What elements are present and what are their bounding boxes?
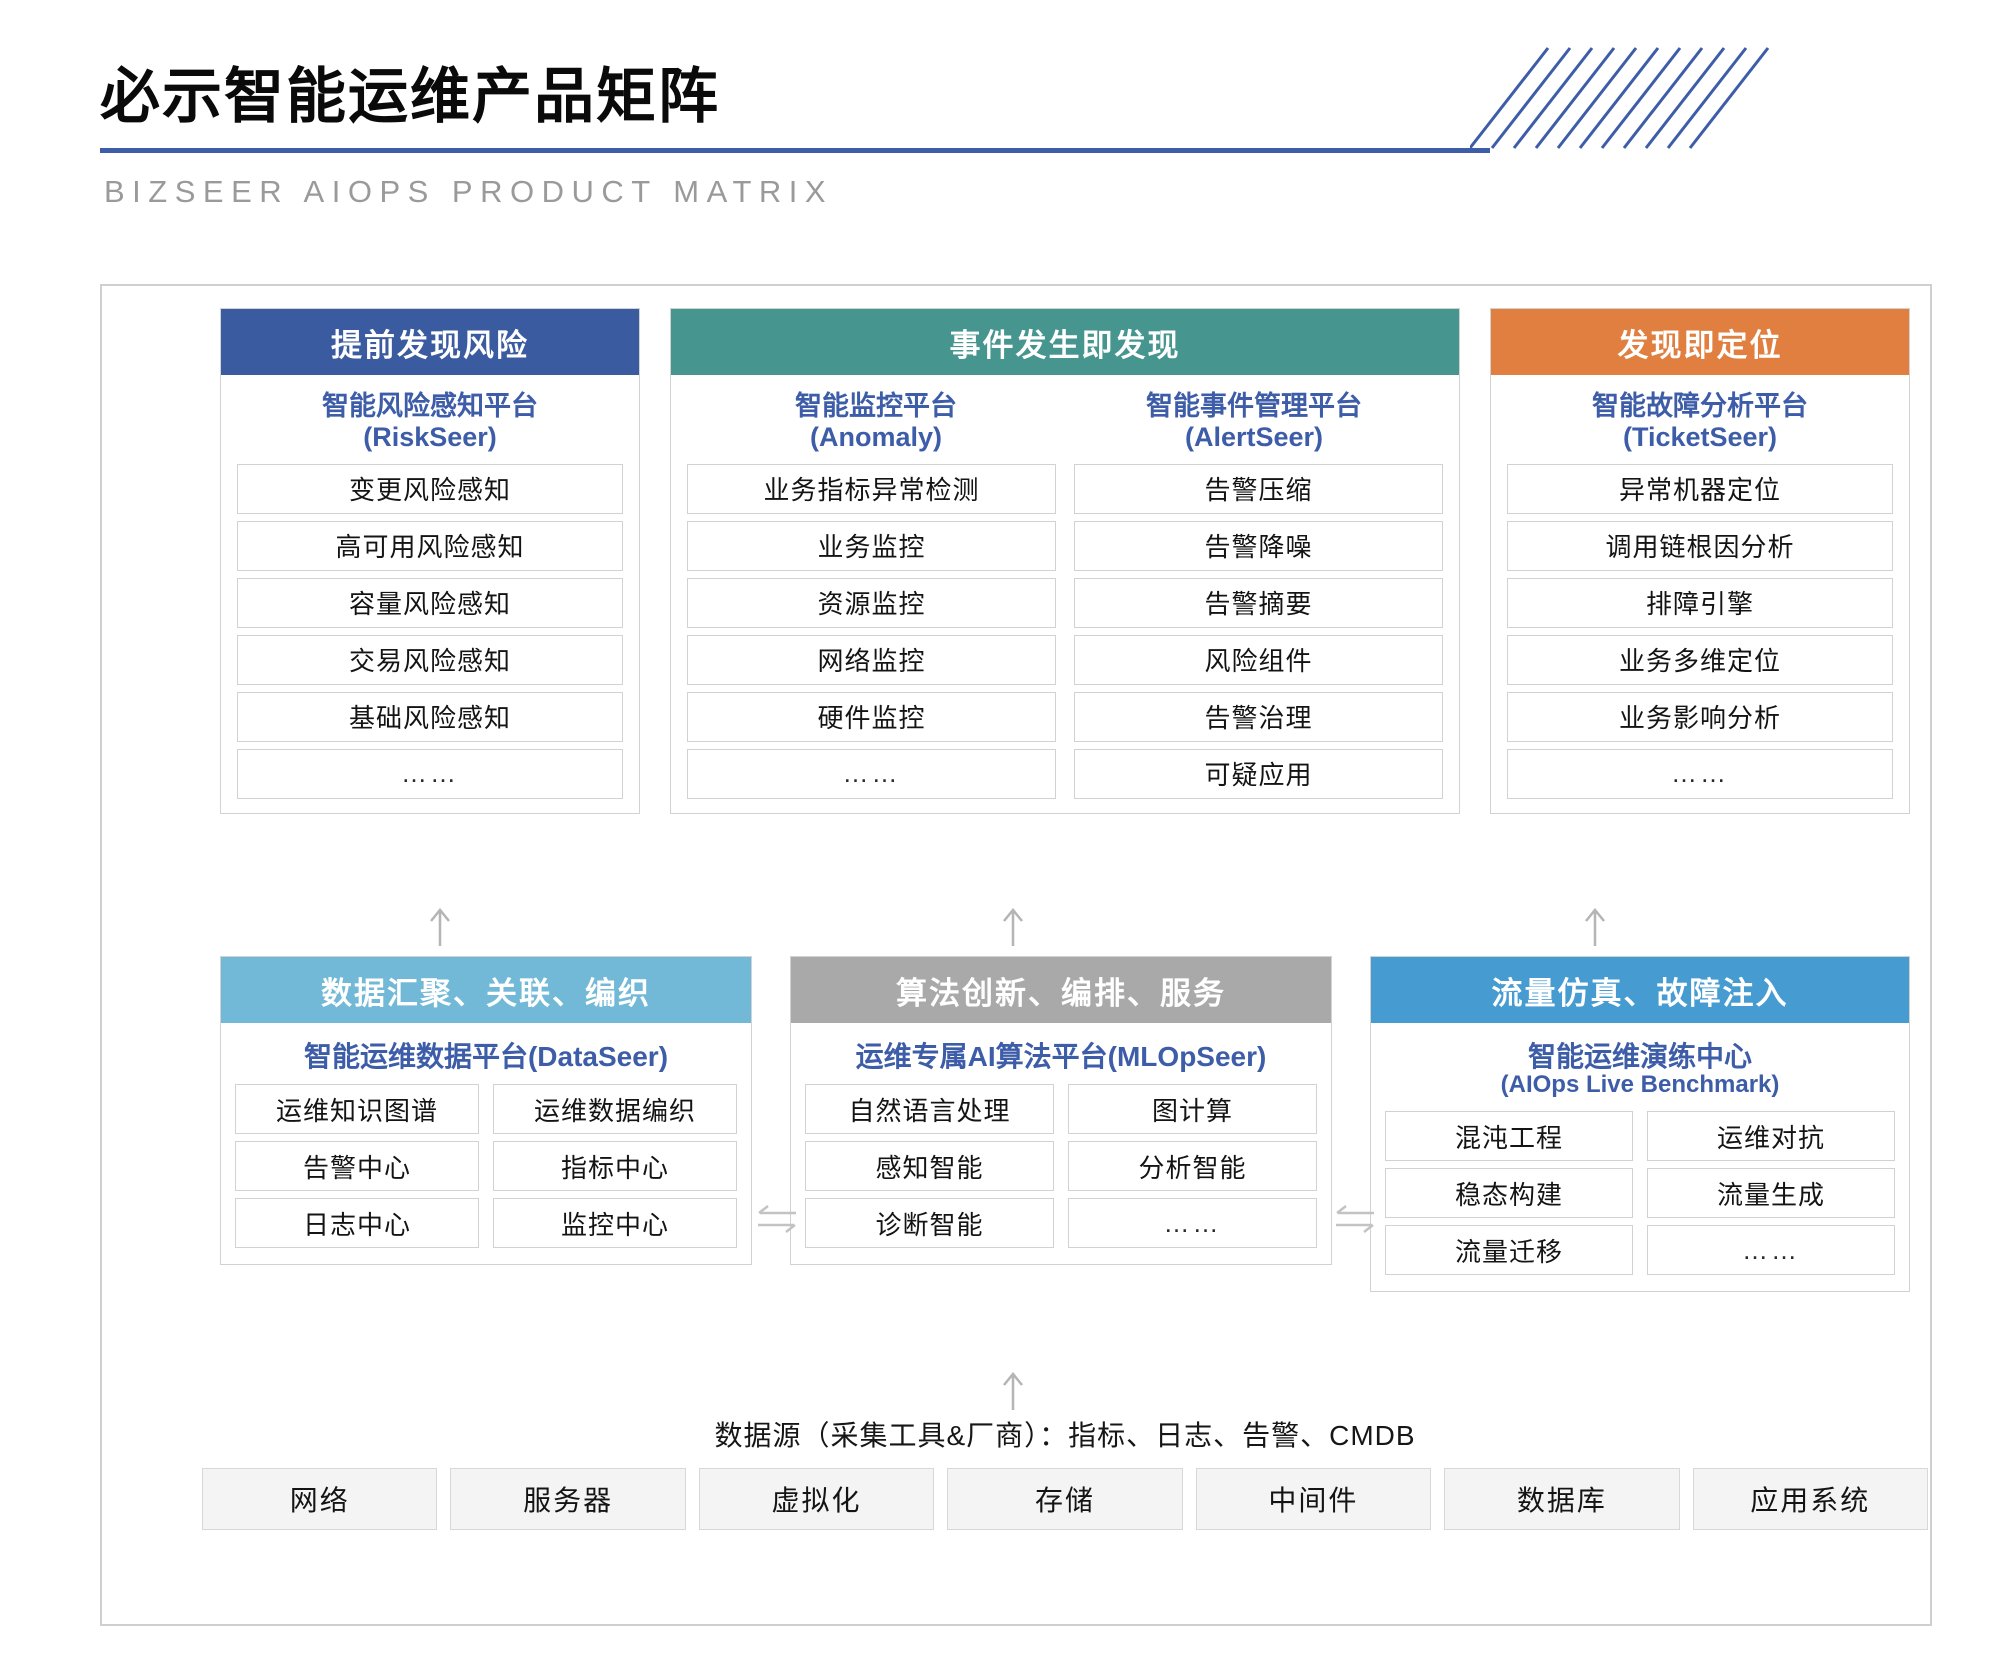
list-item-ellipsis: ……	[1647, 1225, 1895, 1275]
source-box[interactable]: 网络	[202, 1468, 437, 1530]
platform-name-line2: (AIOps Live Benchmark)	[1371, 1072, 1909, 1099]
panel-risk-discovery[interactable]: 提前发现风险 智能风险感知平台 (RiskSeer) 变更风险感知 高可用风险感…	[220, 308, 640, 814]
list-item[interactable]: 分析智能	[1068, 1141, 1317, 1191]
panel-header-bench: 流量仿真、故障注入	[1371, 957, 1909, 1023]
platform-name-line1: 运维专属AI算法平台(MLOpSeer)	[791, 1041, 1331, 1072]
platform-name-riskseer: 智能风险感知平台 (RiskSeer)	[237, 375, 623, 464]
arrow-up-icon	[1000, 1370, 1026, 1410]
list-item[interactable]: 变更风险感知	[237, 464, 623, 514]
item-list-mlopseer-left: 自然语言处理 感知智能 诊断智能	[805, 1084, 1054, 1248]
page-header: 必示智能运维产品矩阵 BIZSEER AIOPS PRODUCT MATRIX	[0, 0, 2000, 230]
list-item[interactable]: 业务监控	[687, 521, 1056, 571]
list-item[interactable]: 日志中心	[235, 1198, 479, 1248]
tier-ops-tools: 提前发现风险 智能风险感知平台 (RiskSeer) 变更风险感知 高可用风险感…	[220, 308, 1910, 908]
list-item[interactable]: 基础风险感知	[237, 692, 623, 742]
list-item[interactable]: 可疑应用	[1074, 749, 1443, 799]
arrow-up-icon	[427, 906, 453, 946]
platform-name-anomaly: 智能监控平台 (Anomaly)	[687, 375, 1065, 464]
list-item[interactable]: 调用链根因分析	[1507, 521, 1893, 571]
list-item[interactable]: 告警摘要	[1074, 578, 1443, 628]
item-list-dataseer-right: 运维数据编织 指标中心 监控中心	[493, 1084, 737, 1248]
list-item[interactable]: 风险组件	[1074, 635, 1443, 685]
list-item[interactable]: 高可用风险感知	[237, 521, 623, 571]
title-underline-rule	[100, 148, 1490, 153]
arrow-up-icon	[1000, 906, 1026, 946]
data-source-row: 网络 服务器 虚拟化 存储 中间件 数据库 应用系统	[202, 1468, 1928, 1530]
list-item[interactable]: 流量生成	[1647, 1168, 1895, 1218]
tier-ops-platform: 数据汇聚、关联、编织 智能运维数据平台(DataSeer) 运维知识图谱 告警中…	[220, 956, 1910, 1376]
list-item-ellipsis: ……	[237, 749, 623, 799]
list-item[interactable]: 运维知识图谱	[235, 1084, 479, 1134]
item-list-benchmark-left: 混沌工程 稳态构建 流量迁移	[1385, 1111, 1633, 1275]
list-item[interactable]: 监控中心	[493, 1198, 737, 1248]
source-box[interactable]: 存储	[947, 1468, 1182, 1530]
panel-event-detection[interactable]: 事件发生即发现 智能监控平台 (Anomaly) 智能事件管理平台 (Alert…	[670, 308, 1460, 814]
platform-name-line1: 智能运维演练中心	[1371, 1041, 1909, 1072]
list-item[interactable]: 交易风险感知	[237, 635, 623, 685]
diagonal-hatch-decoration	[1470, 20, 1870, 154]
platform-name-mlopseer: 运维专属AI算法平台(MLOpSeer)	[791, 1023, 1331, 1084]
platform-name-alertseer: 智能事件管理平台 (AlertSeer)	[1065, 375, 1443, 464]
page-subtitle: BIZSEER AIOPS PRODUCT MATRIX	[104, 174, 833, 210]
source-box[interactable]: 服务器	[450, 1468, 685, 1530]
list-item-ellipsis: ……	[1507, 749, 1893, 799]
item-list-anomaly: 业务指标异常检测 业务监控 资源监控 网络监控 硬件监控 ……	[687, 464, 1056, 799]
list-item[interactable]: 业务多维定位	[1507, 635, 1893, 685]
arrow-up-icon	[1582, 906, 1608, 946]
list-item[interactable]: 容量风险感知	[237, 578, 623, 628]
list-item[interactable]: 业务影响分析	[1507, 692, 1893, 742]
list-item[interactable]: 自然语言处理	[805, 1084, 1054, 1134]
item-list-mlopseer-right: 图计算 分析智能 ……	[1068, 1084, 1317, 1248]
list-item[interactable]: 混沌工程	[1385, 1111, 1633, 1161]
panel-live-benchmark[interactable]: 流量仿真、故障注入 智能运维演练中心 (AIOps Live Benchmark…	[1370, 956, 1910, 1292]
page-title: 必示智能运维产品矩阵	[100, 48, 720, 135]
list-item-ellipsis: ……	[687, 749, 1056, 799]
list-item[interactable]: 告警降噪	[1074, 521, 1443, 571]
item-list-benchmark-right: 运维对抗 流量生成 ……	[1647, 1111, 1895, 1275]
list-item[interactable]: 告警压缩	[1074, 464, 1443, 514]
data-source-caption: 数据源（采集工具&厂商）：指标、日志、告警、CMDB	[220, 1414, 1910, 1454]
list-item[interactable]: 异常机器定位	[1507, 464, 1893, 514]
list-item[interactable]: 业务指标异常检测	[687, 464, 1056, 514]
platform-name-dataseer: 智能运维数据平台(DataSeer)	[221, 1023, 751, 1084]
list-item[interactable]: 资源监控	[687, 578, 1056, 628]
item-list-dataseer-left: 运维知识图谱 告警中心 日志中心	[235, 1084, 479, 1248]
list-item[interactable]: 图计算	[1068, 1084, 1317, 1134]
list-item[interactable]: 运维对抗	[1647, 1111, 1895, 1161]
panel-header-event: 事件发生即发现	[671, 309, 1459, 375]
platform-name-ticketseer: 智能故障分析平台 (TicketSeer)	[1507, 375, 1893, 464]
list-item[interactable]: 告警中心	[235, 1141, 479, 1191]
panel-mlopseer[interactable]: 算法创新、编排、服务 运维专属AI算法平台(MLOpSeer) 自然语言处理 感…	[790, 956, 1332, 1265]
panel-header-algo: 算法创新、编排、服务	[791, 957, 1331, 1023]
source-box[interactable]: 数据库	[1444, 1468, 1679, 1530]
item-list-ticketseer: 异常机器定位 调用链根因分析 排障引擎 业务多维定位 业务影响分析 ……	[1507, 464, 1893, 799]
panel-header-locate: 发现即定位	[1491, 309, 1909, 375]
source-box[interactable]: 中间件	[1196, 1468, 1431, 1530]
list-item[interactable]: 运维数据编织	[493, 1084, 737, 1134]
list-item[interactable]: 稳态构建	[1385, 1168, 1633, 1218]
panel-header-data: 数据汇聚、关联、编织	[221, 957, 751, 1023]
list-item[interactable]: 网络监控	[687, 635, 1056, 685]
list-item[interactable]: 流量迁移	[1385, 1225, 1633, 1275]
diagram-frame: 提前发现风险 智能风险感知平台 (RiskSeer) 变更风险感知 高可用风险感…	[100, 284, 1932, 1626]
list-item[interactable]: 硬件监控	[687, 692, 1056, 742]
bidirectional-arrow-icon	[1334, 1204, 1376, 1234]
panel-fault-location[interactable]: 发现即定位 智能故障分析平台 (TicketSeer) 异常机器定位 调用链根因…	[1490, 308, 1910, 814]
list-item[interactable]: 告警治理	[1074, 692, 1443, 742]
panel-header-risk: 提前发现风险	[221, 309, 639, 375]
item-list-riskseer: 变更风险感知 高可用风险感知 容量风险感知 交易风险感知 基础风险感知 ……	[237, 464, 623, 799]
list-item[interactable]: 排障引擎	[1507, 578, 1893, 628]
list-item-ellipsis: ……	[1068, 1198, 1317, 1248]
platform-name-benchmark: 智能运维演练中心 (AIOps Live Benchmark)	[1371, 1023, 1909, 1111]
list-item[interactable]: 指标中心	[493, 1141, 737, 1191]
source-box[interactable]: 应用系统	[1693, 1468, 1928, 1530]
source-box[interactable]: 虚拟化	[699, 1468, 934, 1530]
platform-name-line1: 智能运维数据平台(DataSeer)	[221, 1041, 751, 1072]
list-item[interactable]: 感知智能	[805, 1141, 1054, 1191]
item-list-alertseer: 告警压缩 告警降噪 告警摘要 风险组件 告警治理 可疑应用	[1074, 464, 1443, 799]
list-item[interactable]: 诊断智能	[805, 1198, 1054, 1248]
panel-dataseer[interactable]: 数据汇聚、关联、编织 智能运维数据平台(DataSeer) 运维知识图谱 告警中…	[220, 956, 752, 1265]
bidirectional-arrow-icon	[756, 1204, 798, 1234]
